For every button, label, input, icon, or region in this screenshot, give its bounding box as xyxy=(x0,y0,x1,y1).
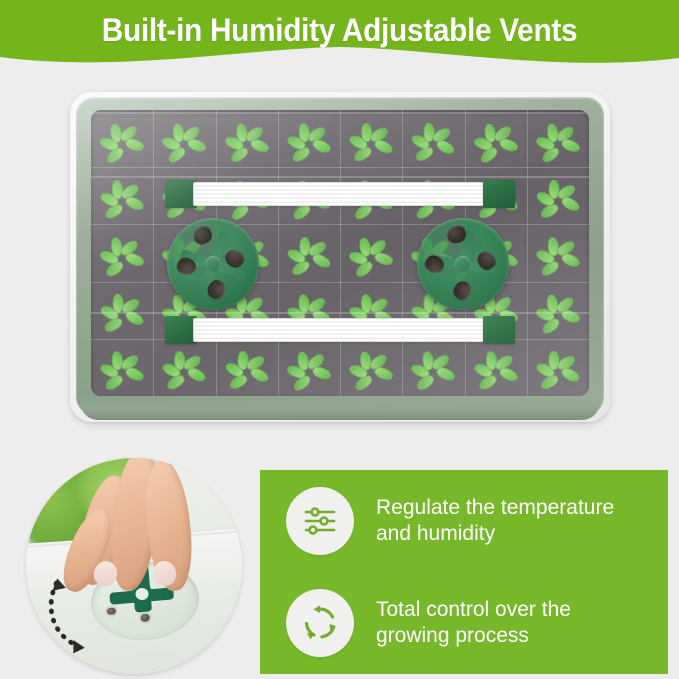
leaf xyxy=(497,365,519,384)
feature-row-regulate: Regulate the temperature and humidity xyxy=(260,470,668,572)
leaf xyxy=(124,250,146,269)
seedling xyxy=(94,227,150,279)
upper-slider-vent[interactable] xyxy=(165,180,515,208)
rotation-arrow-icon xyxy=(43,566,138,661)
seed-tray-dome xyxy=(70,92,610,422)
seedling xyxy=(468,113,524,165)
leaf xyxy=(373,250,395,268)
tray-cell-grid xyxy=(91,110,589,396)
feature-text: Regulate the temperature and humidity xyxy=(376,495,614,547)
slider-tab-right[interactable] xyxy=(483,316,515,344)
seedling xyxy=(343,227,399,279)
feature-panel: Regulate the temperature and humidity To… xyxy=(260,470,668,674)
page-title: Built-in Humidity Adjustable Vents xyxy=(24,12,655,49)
seedling xyxy=(219,341,275,393)
seedling xyxy=(156,341,212,393)
leaf xyxy=(559,365,581,385)
seedling xyxy=(530,227,586,279)
right-vent-dial[interactable] xyxy=(417,218,509,310)
leaf xyxy=(373,136,395,156)
seedling xyxy=(530,170,586,222)
seedling xyxy=(156,113,212,165)
feature-row-control: Total control over the growing process xyxy=(260,572,668,674)
seedling xyxy=(530,341,586,393)
leaf xyxy=(310,364,332,382)
leaf xyxy=(124,135,146,153)
leaf xyxy=(248,365,270,385)
feature-line-2: growing process xyxy=(376,623,571,649)
slider-tab-right[interactable] xyxy=(483,180,515,208)
leaf xyxy=(559,307,581,325)
feature-text: Total control over the growing process xyxy=(376,597,571,649)
seedling xyxy=(343,113,399,165)
dial-hub xyxy=(205,256,221,272)
hand-adjusting-vent-photo xyxy=(26,458,242,674)
slider-track[interactable] xyxy=(193,318,487,342)
leaf xyxy=(559,251,581,270)
leaf xyxy=(310,251,332,271)
seedling xyxy=(281,113,337,165)
leaf xyxy=(373,365,395,384)
slider-track[interactable] xyxy=(193,182,487,206)
seedling xyxy=(94,113,150,165)
lower-slider-vent[interactable] xyxy=(165,316,515,344)
seedling xyxy=(530,113,586,165)
tray-base xyxy=(80,396,600,420)
leaf xyxy=(186,136,208,154)
dial-hub xyxy=(455,256,471,272)
left-vent-dial[interactable] xyxy=(167,218,259,310)
seedling xyxy=(219,113,275,165)
seedling xyxy=(281,227,337,279)
leaf xyxy=(123,308,145,328)
seedling xyxy=(94,284,150,336)
seedling xyxy=(530,284,586,336)
feature-line-1: Total control over the xyxy=(376,597,571,623)
seedling xyxy=(343,341,399,393)
recycle-arrows-icon xyxy=(286,589,354,657)
leaf xyxy=(124,365,146,384)
seedling xyxy=(94,170,150,222)
product-image-area xyxy=(0,72,679,450)
leaf xyxy=(124,193,146,212)
seedling xyxy=(94,341,150,393)
seedling xyxy=(468,341,524,393)
header-banner: Built-in Humidity Adjustable Vents xyxy=(0,0,679,72)
leaf xyxy=(435,365,457,384)
leaf xyxy=(435,137,457,157)
seedling xyxy=(405,341,461,393)
seedling xyxy=(405,113,461,165)
feature-line-1: Regulate the temperature xyxy=(376,495,614,521)
seedling xyxy=(281,341,337,393)
sliders-icon xyxy=(286,487,354,555)
banner-wave-divider xyxy=(0,47,679,72)
leaf xyxy=(559,194,581,214)
leaf xyxy=(186,365,208,385)
feature-line-2: and humidity xyxy=(376,521,614,547)
